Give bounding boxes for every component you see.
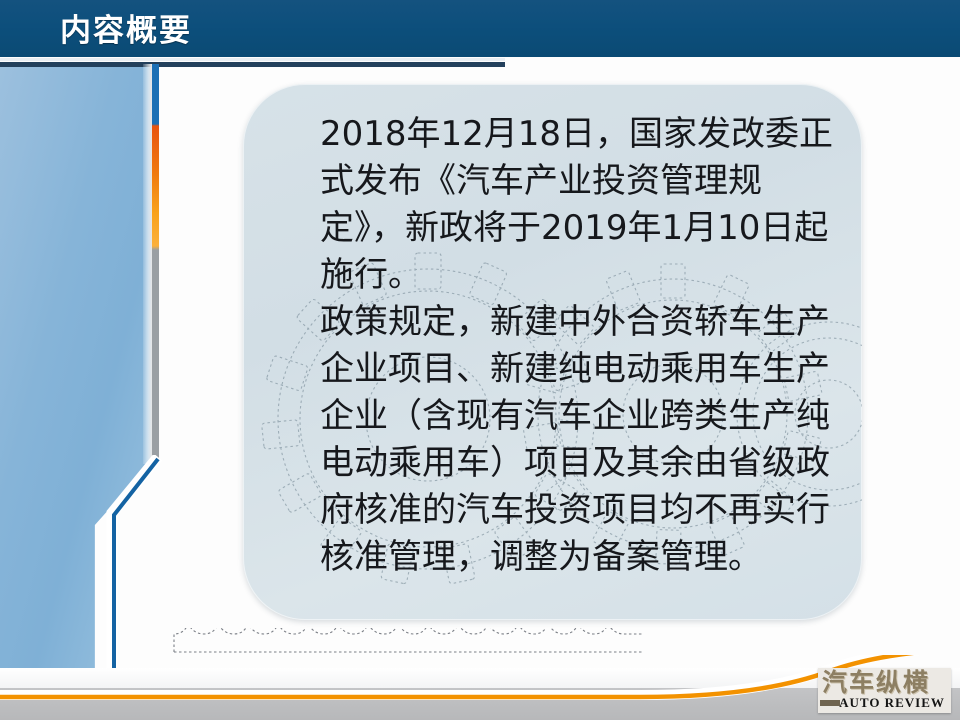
header-rule — [0, 62, 505, 67]
page-title: 内容概要 — [60, 11, 192, 51]
left-panel-highlight — [143, 64, 152, 464]
vertical-color-stripe — [152, 64, 159, 464]
header-rule-highlight — [0, 58, 505, 61]
gear-rack-icon — [172, 628, 642, 668]
left-blue-panel — [0, 67, 153, 675]
content-body-text: 2018年12月18日，国家发改委正式发布《汽车产业投资管理规定》，新政将于20… — [320, 111, 840, 581]
brand-logo: 汽车纵横 AUTO REVIEW — [818, 668, 951, 713]
footer-gray-band — [0, 688, 960, 720]
content-card: 2018年12月18日，国家发改委正式发布《汽车产业投资管理规定》，新政将于20… — [243, 84, 862, 620]
footer-white-band — [0, 668, 960, 690]
logo-english-text: AUTO REVIEW — [836, 696, 948, 710]
logo-chinese-text: 汽车纵横 — [822, 669, 948, 697]
slide-canvas: 内容概要 — [0, 0, 960, 720]
